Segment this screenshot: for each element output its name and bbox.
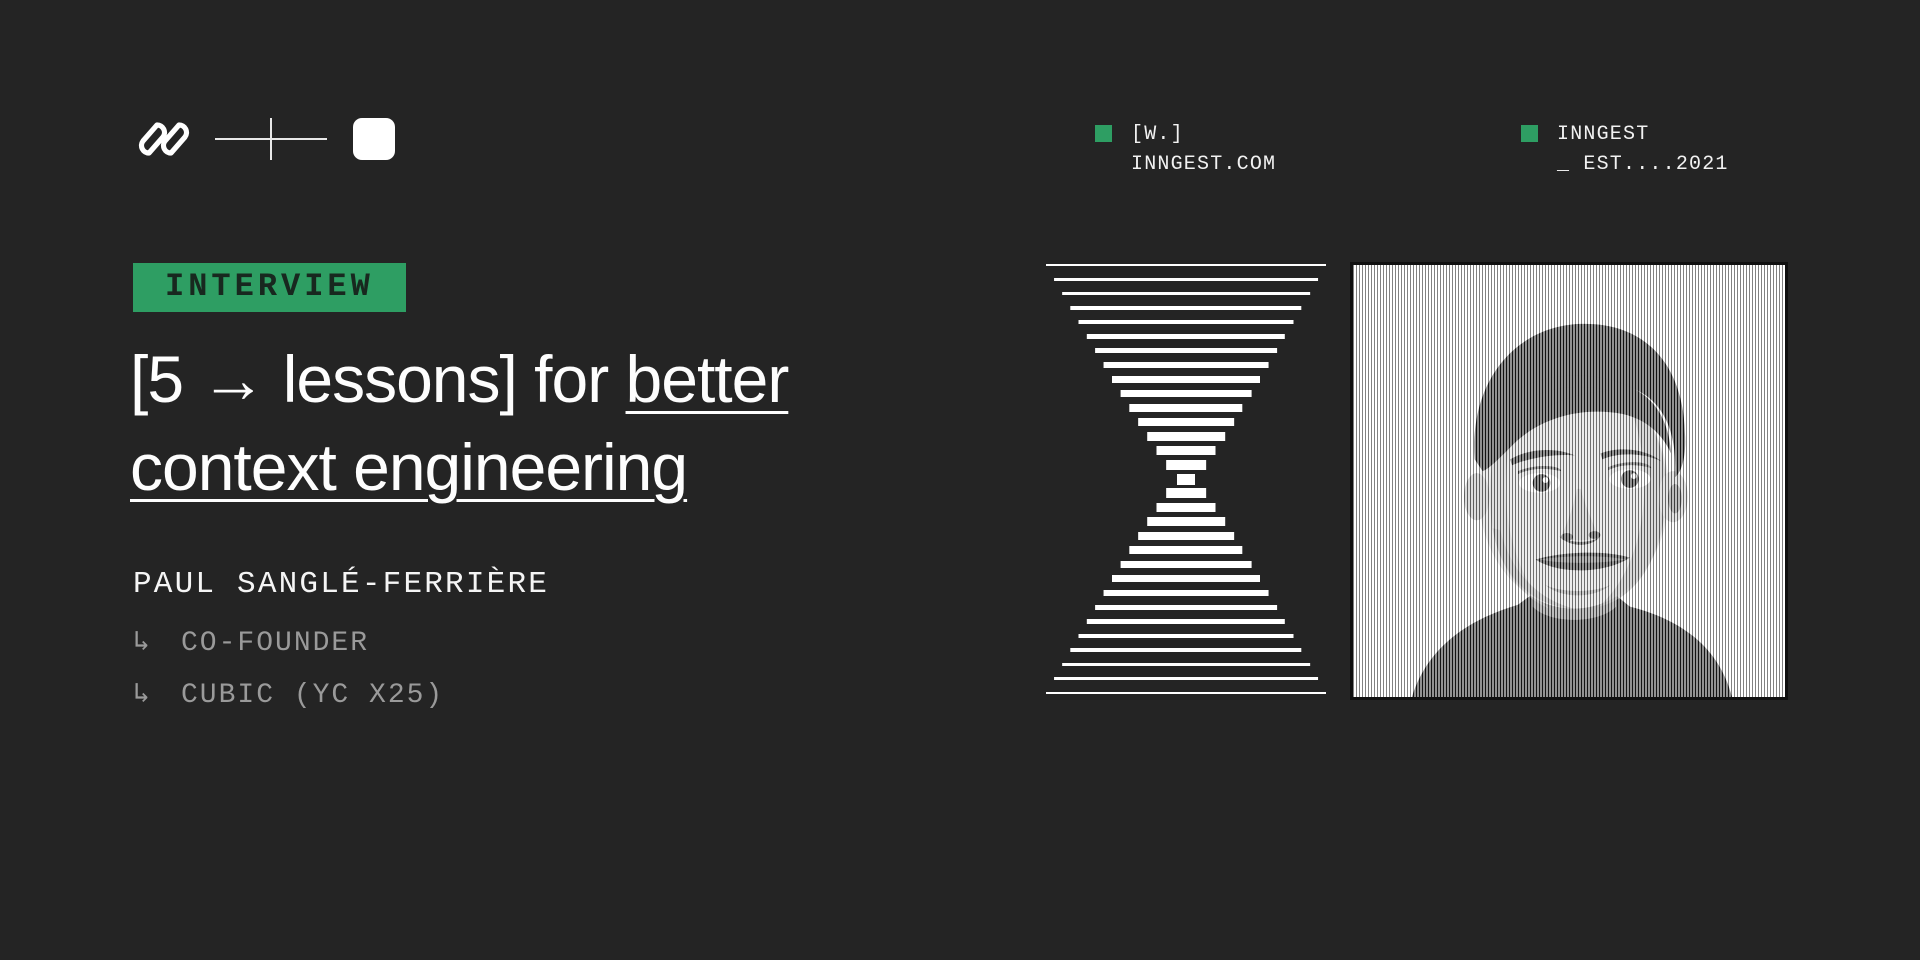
hourglass-bar: [1046, 692, 1326, 694]
corner-arrow-icon: ↳: [133, 670, 181, 722]
page-title: [5 → lessons] for bettercontext engineer…: [130, 335, 1120, 511]
hourglass-bar: [1079, 634, 1294, 638]
hourglass-bar: [1138, 532, 1234, 541]
social-card-canvas: [W.]INNGEST.COM INNGEST_ EST....2021 INT…: [0, 0, 1920, 960]
speaker-role-title: CO-FOUNDER: [181, 618, 369, 670]
header-est-line1: INNGEST: [1557, 123, 1649, 146]
hourglass-bar: [1166, 488, 1206, 498]
hourglass-bar: [1157, 446, 1216, 456]
hourglass-bar: [1121, 561, 1252, 568]
header-site-line2: INNGEST.COM: [1131, 153, 1276, 176]
header-est-line2: _ EST....2021: [1557, 153, 1729, 176]
hourglass-bar: [1070, 648, 1301, 652]
hourglass-bar: [1046, 264, 1326, 266]
hourglass-bar: [1138, 418, 1234, 427]
hourglass-bar: [1147, 517, 1225, 526]
hourglass-bar: [1070, 306, 1301, 310]
hourglass-bar: [1095, 348, 1277, 354]
hourglass-bar: [1177, 474, 1195, 485]
header-site-line1: [W.]: [1131, 123, 1184, 146]
dithered-portrait-image: [1350, 262, 1788, 700]
speaker-role-company: CUBIC (YC X25): [181, 670, 444, 722]
hourglass-bar: [1121, 390, 1252, 397]
badge-label: INTERVIEW: [165, 268, 374, 305]
hourglass-bar: [1104, 590, 1269, 596]
hourglass-bar: [1062, 292, 1310, 295]
hourglass-bar: [1054, 278, 1318, 281]
brand-row: [133, 118, 395, 160]
hourglass-bar: [1166, 460, 1206, 470]
hourglass-bar: [1112, 575, 1260, 582]
hourglass-bar: [1087, 619, 1285, 624]
hourglass-bar: [1157, 503, 1216, 513]
headline-line2-underlined: context engineering: [130, 430, 687, 504]
headline-line1-underlined: better: [626, 342, 789, 416]
plus-divider-icon: [215, 118, 327, 160]
inngest-infinity-logo-icon[interactable]: [133, 118, 195, 160]
hourglass-bar: [1129, 546, 1242, 554]
status-badge: INTERVIEW: [133, 263, 406, 312]
green-square-bullet-icon: [1095, 125, 1112, 142]
hourglass-bar: [1095, 605, 1277, 611]
header-site-lines: [W.]INNGEST.COM: [1131, 120, 1276, 180]
hourglass-bar: [1147, 432, 1225, 441]
hourglass-bar: [1104, 362, 1269, 368]
header-meta-est: INNGEST_ EST....2021: [1521, 120, 1729, 180]
list-item: ↳ CO-FOUNDER: [133, 618, 444, 670]
portrait-artwork: [1353, 265, 1785, 697]
hourglass-stripes-icon: [1046, 258, 1326, 700]
hourglass-bar: [1054, 677, 1318, 680]
green-square-bullet-icon: [1521, 125, 1538, 142]
headline-line1-plain: [5 → lessons] for: [130, 342, 626, 416]
list-item: ↳ CUBIC (YC X25): [133, 670, 444, 722]
hourglass-bar: [1112, 376, 1260, 383]
header-est-lines: INNGEST_ EST....2021: [1557, 120, 1729, 180]
header-meta-site: [W.]INNGEST.COM: [1095, 120, 1276, 180]
corner-arrow-icon: ↳: [133, 618, 181, 670]
hourglass-bar: [1129, 404, 1242, 412]
speaker-name: PAUL SANGLÉ-FERRIÈRE: [133, 567, 549, 602]
speaker-roles: ↳ CO-FOUNDER ↳ CUBIC (YC X25): [133, 618, 444, 722]
hourglass-bar: [1087, 334, 1285, 339]
white-rounded-square-icon[interactable]: [353, 118, 395, 160]
hourglass-bar: [1079, 320, 1294, 324]
hourglass-bar: [1062, 663, 1310, 666]
